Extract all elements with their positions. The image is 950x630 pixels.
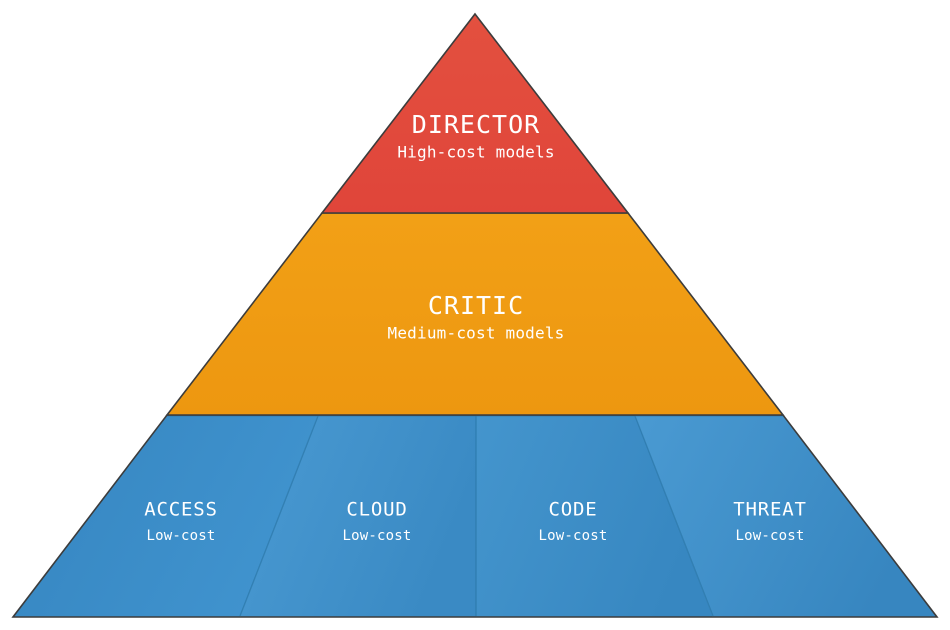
segment-threat-title: THREAT <box>733 499 806 521</box>
segment-access-title: ACCESS <box>144 499 217 521</box>
segment-cloud-title: CLOUD <box>346 499 407 521</box>
tier-director-subtitle: High-cost models <box>397 143 554 162</box>
tier-critic-title: CRITIC <box>428 291 524 320</box>
pyramid-base-band: ACCESS Low-cost CLOUD Low-cost CODE Low-… <box>13 415 937 617</box>
tier-director-title: DIRECTOR <box>412 110 540 139</box>
segment-code-subtitle: Low-cost <box>538 528 607 544</box>
pyramid-tier-director[interactable]: DIRECTOR High-cost models <box>322 14 628 213</box>
segment-cloud-subtitle: Low-cost <box>342 528 411 544</box>
segment-access-subtitle: Low-cost <box>146 528 215 544</box>
pyramid-diagram: ACCESS Low-cost CLOUD Low-cost CODE Low-… <box>0 0 950 630</box>
tier-critic-subtitle: Medium-cost models <box>388 324 565 343</box>
segment-threat-subtitle: Low-cost <box>735 528 804 544</box>
pyramid-svg: ACCESS Low-cost CLOUD Low-cost CODE Low-… <box>0 0 950 630</box>
pyramid-tier-critic[interactable]: CRITIC Medium-cost models <box>167 213 783 415</box>
segment-code-title: CODE <box>549 499 598 521</box>
